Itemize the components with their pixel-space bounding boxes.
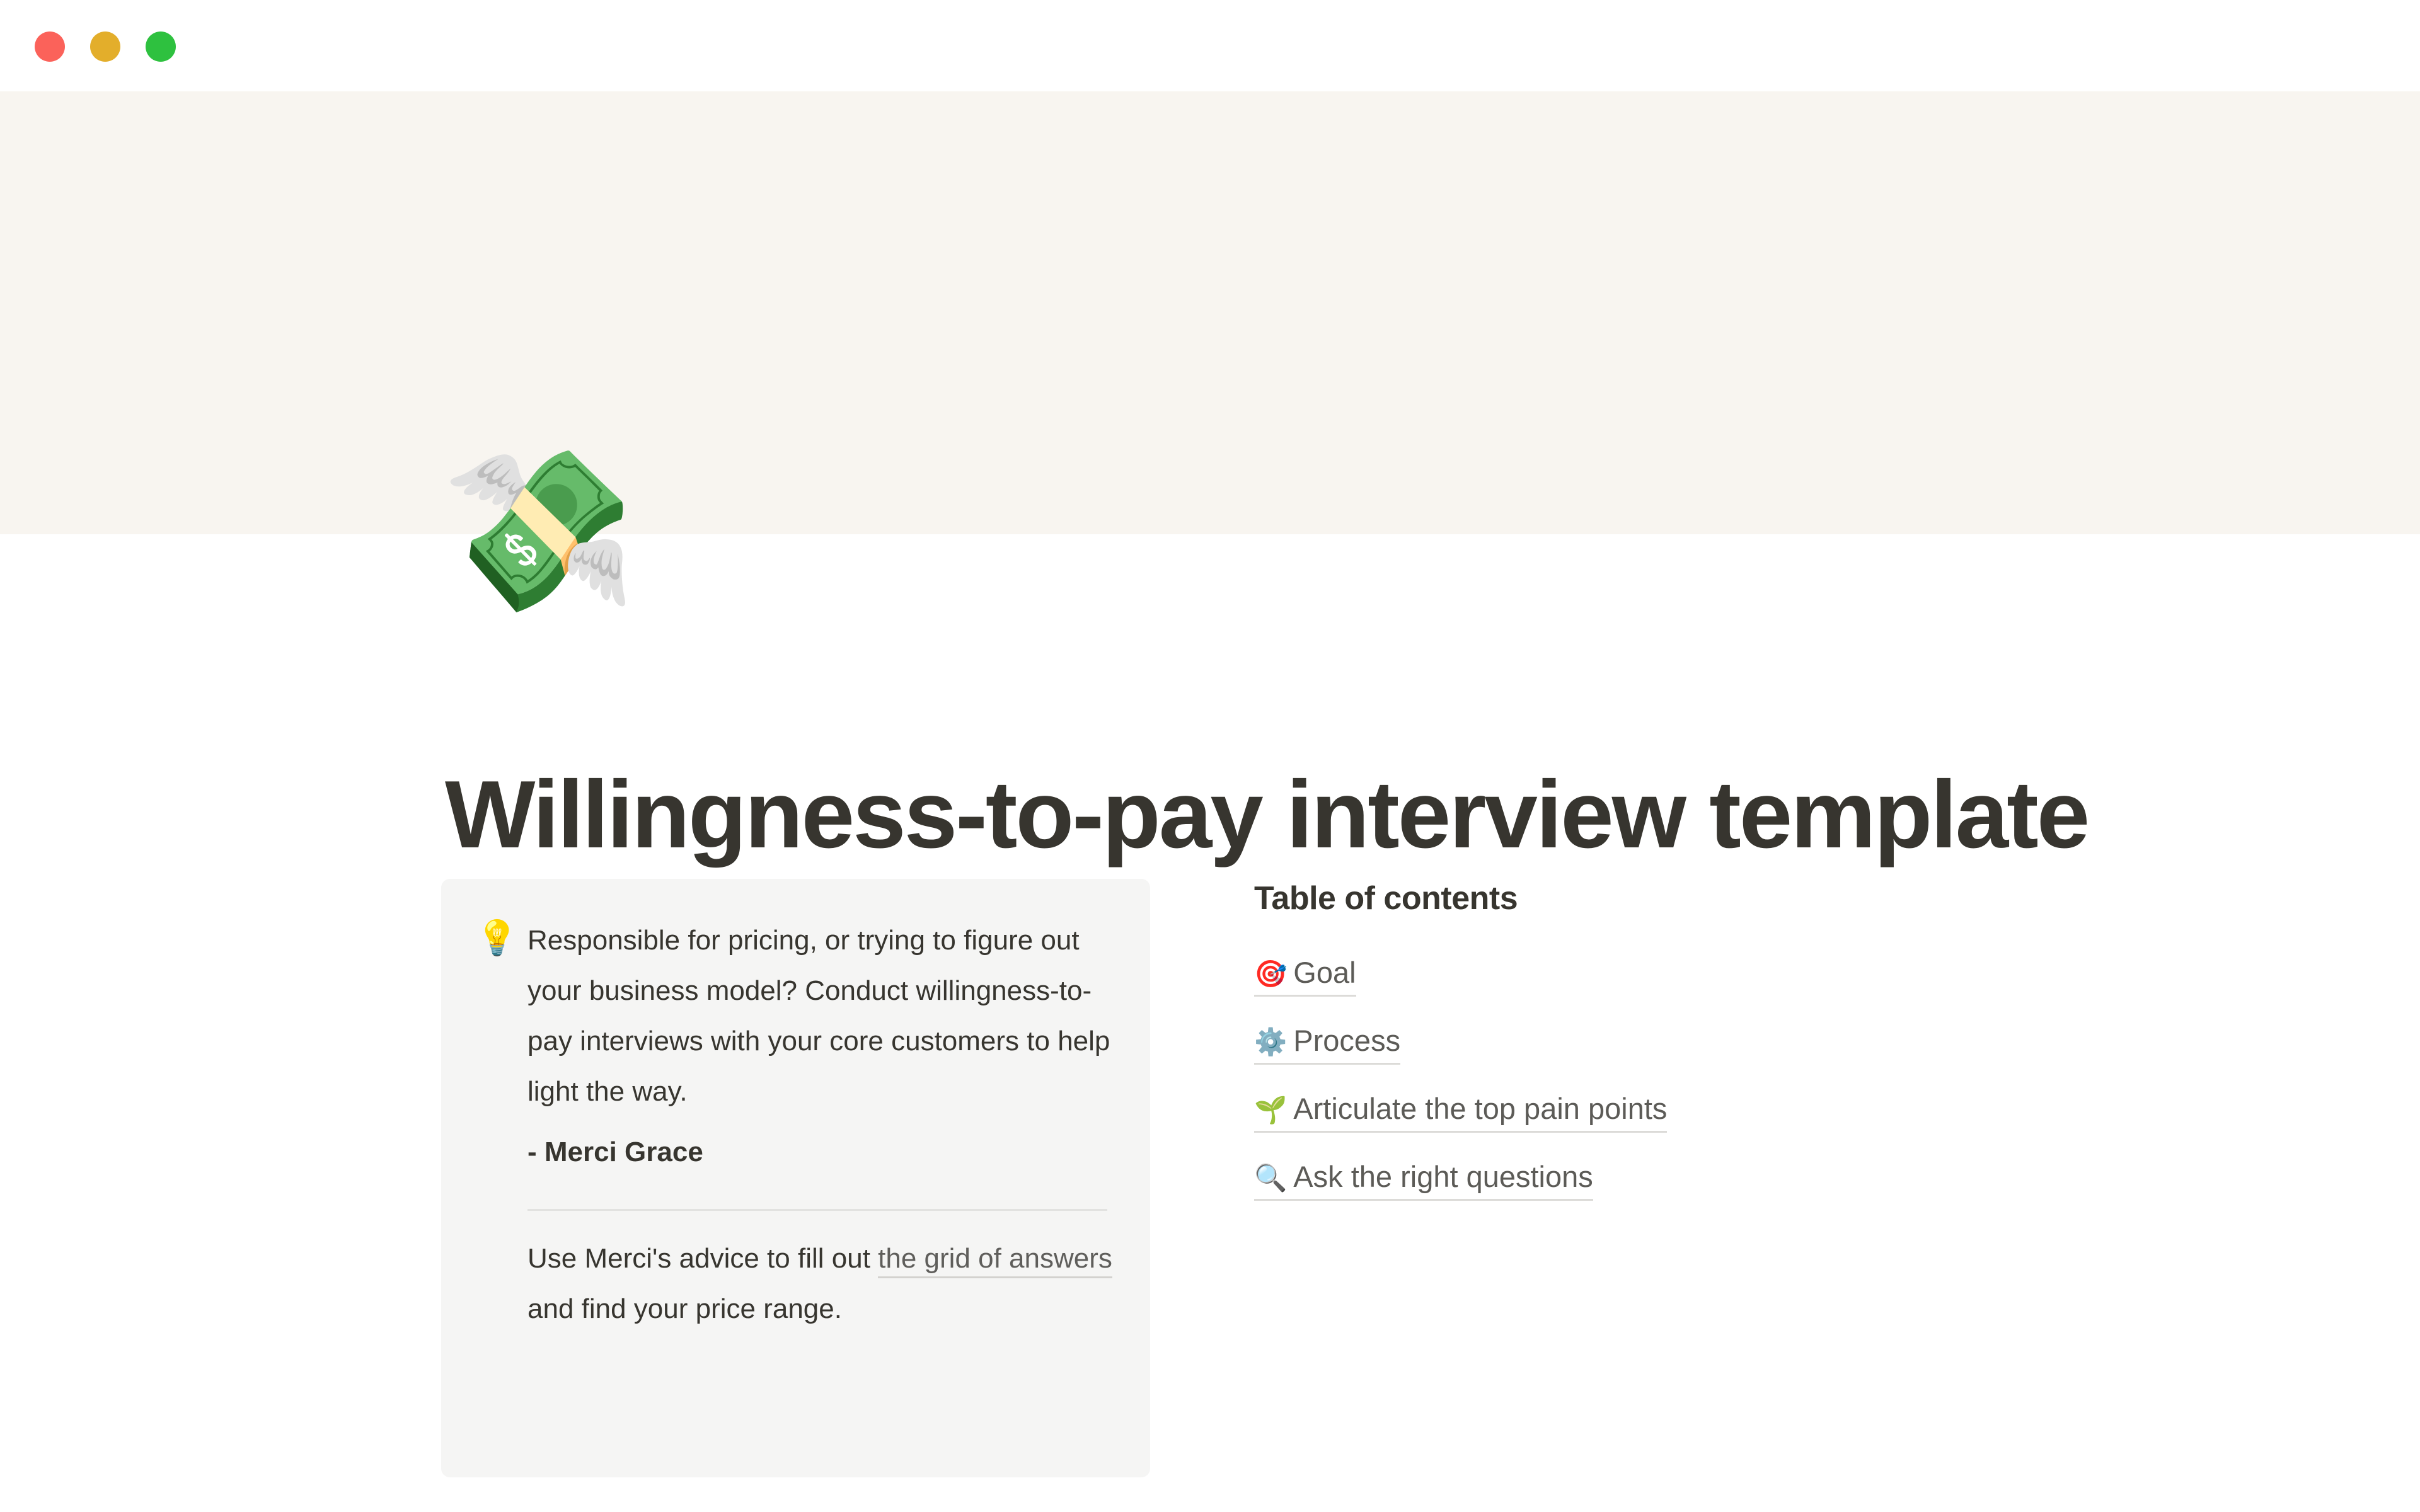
callout-footer-suffix: and find your price range. (527, 1293, 842, 1324)
gear-emoji: ⚙️ (1254, 1027, 1293, 1057)
page-cover-banner[interactable] (0, 91, 2420, 534)
callout-attribution: - Merci Grace (527, 1117, 1115, 1177)
callout-footer-text: Use Merci's advice to fill out the grid … (527, 1211, 1115, 1334)
toc-item-articulate-pain-points: 🌱Articulate the top pain points (1254, 1089, 2136, 1128)
page-icon[interactable]: 💸 (441, 440, 624, 622)
toc-item-goal: 🎯Goal (1254, 953, 2136, 992)
app-window: 💸 Willingness-to-pay interview template … (0, 0, 2420, 1512)
seedling-emoji: 🌱 (1254, 1095, 1293, 1125)
toc-item-process: ⚙️Process (1254, 1021, 2136, 1060)
magnifying-glass-emoji: 🔍 (1254, 1163, 1293, 1193)
table-of-contents: Table of contents 🎯Goal ⚙️Process 🌱Artic… (1254, 879, 2136, 1225)
toc-heading: Table of contents (1254, 879, 2136, 918)
toc-label-articulate-pain-points: Articulate the top pain points (1293, 1092, 1667, 1125)
callout-row: 💡 Responsible for pricing, or trying to … (476, 915, 1115, 1334)
toc-label-ask-right-questions: Ask the right questions (1293, 1160, 1593, 1193)
window-titlebar (0, 0, 2420, 91)
quote-callout-block[interactable]: 💡 Responsible for pricing, or trying to … (441, 879, 1150, 1477)
callout-quote-text: Responsible for pricing, or trying to fi… (527, 915, 1115, 1117)
page-title[interactable]: Willingness-to-pay interview template (445, 762, 2273, 868)
close-window-button[interactable] (35, 31, 65, 62)
grid-of-answers-link[interactable]: the grid of answers (878, 1243, 1112, 1278)
callout-body: Responsible for pricing, or trying to fi… (524, 915, 1115, 1334)
maximize-window-button[interactable] (146, 31, 176, 62)
toc-link-articulate-pain-points[interactable]: 🌱Articulate the top pain points (1254, 1089, 1667, 1133)
callout-footer-prefix: Use Merci's advice to fill out (527, 1243, 878, 1274)
toc-list: 🎯Goal ⚙️Process 🌱Articulate the top pain… (1254, 953, 2136, 1196)
toc-link-goal[interactable]: 🎯Goal (1254, 953, 1356, 997)
direct-hit-emoji: 🎯 (1254, 959, 1293, 988)
toc-label-goal: Goal (1293, 956, 1356, 989)
toc-link-process[interactable]: ⚙️Process (1254, 1021, 1400, 1065)
minimize-window-button[interactable] (90, 31, 120, 62)
toc-link-ask-right-questions[interactable]: 🔍Ask the right questions (1254, 1157, 1593, 1201)
toc-item-ask-right-questions: 🔍Ask the right questions (1254, 1157, 2136, 1196)
traffic-light-controls (35, 31, 176, 62)
light-bulb-emoji: 💡 (476, 915, 524, 961)
toc-label-process: Process (1293, 1024, 1400, 1057)
